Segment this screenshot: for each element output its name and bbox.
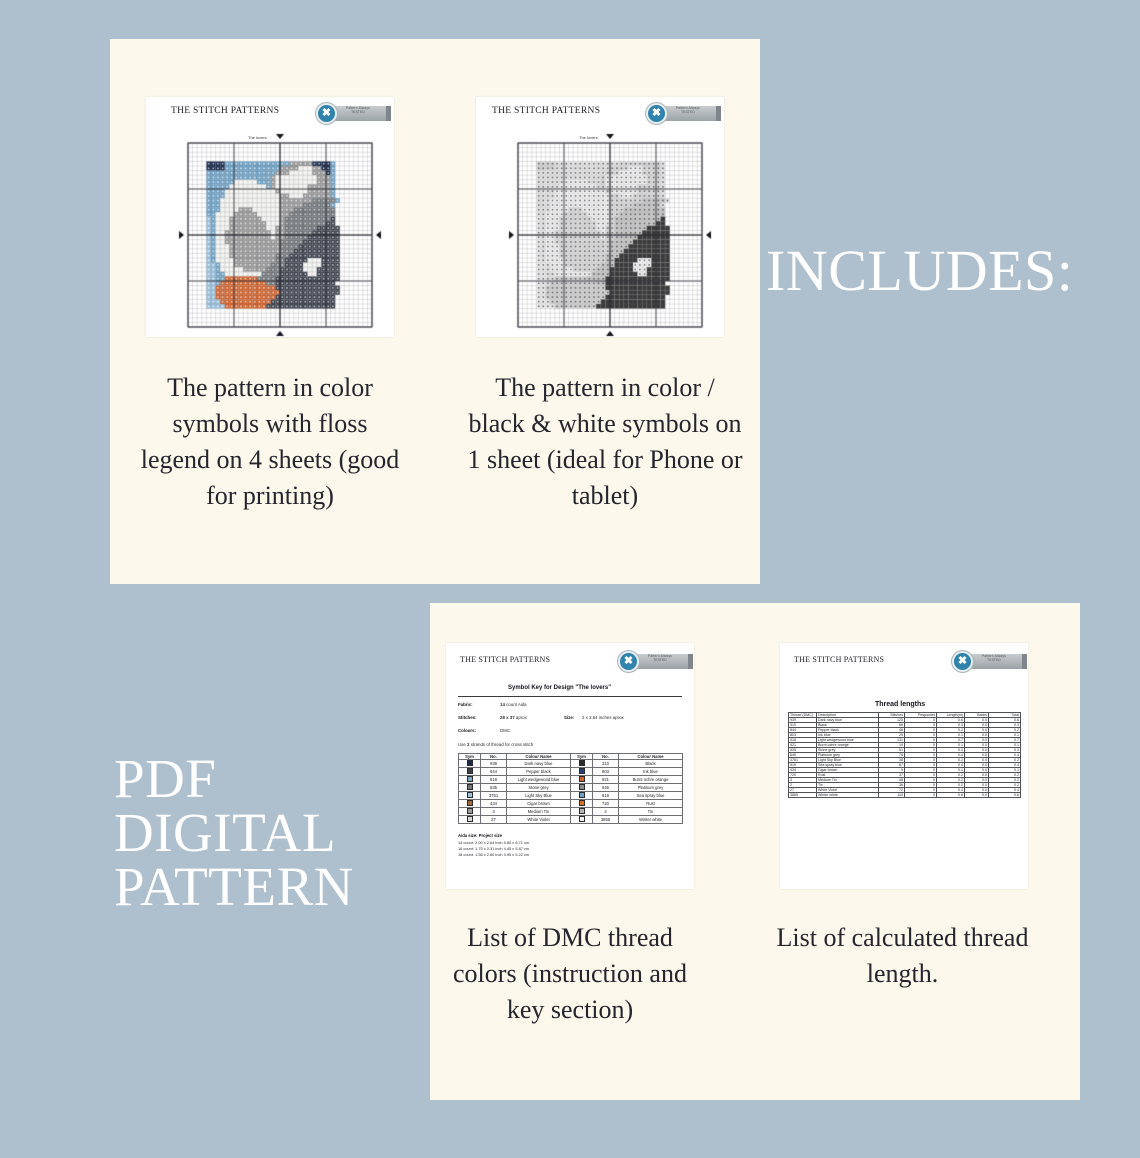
pdf-heading-line1: PDF: [114, 752, 354, 806]
key-colour-name: Rust: [619, 800, 683, 808]
badge-x-icon: ✖: [954, 653, 971, 670]
table-row: 434Cigar brown720Rust: [459, 800, 683, 808]
key-symbol-swatch: [459, 768, 481, 776]
table-row: 3Medium Tin2Tin: [459, 808, 683, 816]
pdf-heading-line2: DIGITAL: [114, 806, 354, 860]
divider: [458, 696, 682, 697]
key-thread-no: 844: [481, 768, 507, 776]
key-thread-no: 3865: [593, 816, 619, 824]
size-label: Size:: [564, 715, 574, 720]
bw-symbol-chart: [476, 97, 724, 337]
colour-swatch: [579, 760, 585, 766]
colour-swatch: [467, 808, 473, 814]
key-thread-no: 518: [481, 776, 507, 784]
table-body: 939Dark navy blue12500.60.00.6310Black66…: [789, 718, 1021, 798]
fabric-label: Fabric:: [458, 702, 473, 707]
colour-swatch: [579, 800, 585, 806]
pdf-digital-pattern-heading: PDF DIGITAL PATTERN: [114, 752, 354, 914]
strands-note-post: strands of thread for cross stitch: [469, 742, 533, 747]
key-thread-no: 646: [593, 784, 619, 792]
lengths-description: Winter white: [817, 793, 879, 798]
sheet-header-title: THE STITCH PATTERNS: [460, 655, 550, 664]
symbol-key-table: SymNo.Colour NameSymNo.Colour Name 939Da…: [458, 753, 683, 824]
key-symbol-swatch: [459, 776, 481, 784]
table-row: 518Light wedgewood blue921Burnt ochre or…: [459, 776, 683, 784]
key-thread-no: 939: [481, 760, 507, 768]
thread-lengths-table: Thread (DMC)DescriptionStitchesPespuntes…: [788, 712, 1021, 798]
stitches-approx: aprox: [515, 715, 527, 720]
caption-thread-length: List of calculated thread length.: [770, 920, 1035, 992]
table-row: 844Pepper black803Ink blue: [459, 768, 683, 776]
key-colour-name: Pepper black: [507, 768, 571, 776]
key-colour-name: Sea spray blue: [619, 792, 683, 800]
colour-swatch: [579, 784, 585, 790]
key-thread-no: 3: [481, 808, 507, 816]
lengths-total: 0.6: [989, 793, 1021, 798]
table-row: 3761Light Sky Blue519Sea spray blue: [459, 792, 683, 800]
stitches-count: 28 x 37: [500, 715, 515, 720]
sheet-symbol-key[interactable]: THE STITCH PATTERNS Pattern Always TESTE…: [446, 643, 694, 889]
badge-ribbon-text: Pattern Always TESTED: [634, 654, 686, 663]
badge-seal-icon: ✖: [618, 651, 639, 672]
key-colour-name: Light wedgewood blue: [507, 776, 571, 784]
key-colour-name: Dark navy blue: [507, 760, 571, 768]
colour-swatch: [579, 768, 585, 774]
key-symbol-swatch: [571, 768, 593, 776]
key-thread-no: 803: [593, 768, 619, 776]
caption-bw-symbols: The pattern in color / black & white sym…: [465, 370, 745, 514]
symbol-key-title: Symbol Key for Design "The lovers": [508, 685, 611, 691]
colour-swatch: [467, 784, 473, 790]
badge-seal-icon: ✖: [952, 651, 973, 672]
key-thread-no: 2: [593, 808, 619, 816]
badge-ribbon-line2: TESTED: [634, 658, 686, 662]
key-symbol-swatch: [571, 760, 593, 768]
badge-ribbon-line2: TESTED: [968, 658, 1020, 662]
key-symbol-swatch: [571, 800, 593, 808]
sheet-thread-lengths[interactable]: THE STITCH PATTERNS Pattern Always TESTE…: [780, 643, 1028, 889]
colour-swatch: [579, 816, 585, 822]
key-colour-name: Medium Tin: [507, 808, 571, 816]
strands-note-pre: Use: [458, 742, 467, 747]
key-symbol-swatch: [571, 816, 593, 824]
key-symbol-swatch: [459, 816, 481, 824]
badge-x-icon: ✖: [620, 653, 637, 670]
colours-label: Colours:: [458, 728, 476, 733]
aida-line-3: 18 count: 1.56 x 2.60 inch 3.95 x 5.22 c…: [458, 852, 529, 857]
sheet-color-pattern[interactable]: THE STITCH PATTERNS Pattern Always TESTE…: [146, 97, 394, 337]
table-row: 3865Winter white11000.60.00.6: [789, 793, 1021, 798]
colour-swatch: [467, 816, 473, 822]
stitches-value: 28 x 37 aprox: [500, 715, 527, 720]
table-row: 535Stone grey646Platinum grey: [459, 784, 683, 792]
colour-swatch: [467, 792, 473, 798]
lengths-thread: 3865: [789, 793, 817, 798]
colour-swatch: [579, 792, 585, 798]
colour-swatch: [467, 776, 473, 782]
lengths-backs: 0.0: [965, 793, 989, 798]
stitches-label: Stitches:: [458, 715, 477, 720]
lengths-pespuntes: 0: [905, 793, 937, 798]
colour-swatch: [467, 760, 473, 766]
sheet-bw-pattern[interactable]: THE STITCH PATTERNS Pattern Always TESTE…: [476, 97, 724, 337]
key-thread-no: 720: [593, 800, 619, 808]
colour-swatch: [467, 768, 473, 774]
key-symbol-swatch: [571, 784, 593, 792]
key-colour-name: Black: [619, 760, 683, 768]
pattern-tested-badge: Pattern Always TESTED ✖: [618, 651, 700, 673]
colours-value: DMC: [500, 728, 510, 733]
key-symbol-swatch: [459, 808, 481, 816]
includes-heading: INCLUDES:: [766, 240, 1073, 302]
color-symbol-chart: [146, 97, 394, 337]
thread-lengths-title: Thread lengths: [875, 701, 925, 708]
key-thread-no: 535: [481, 784, 507, 792]
aida-line-2: 16 count: 1.75 x 2.31 inch 4.45 x 5.87 c…: [458, 846, 529, 851]
key-symbol-swatch: [571, 776, 593, 784]
key-thread-no: 27: [481, 816, 507, 824]
fabric-unit: count Aida: [505, 702, 527, 707]
key-thread-no: 921: [593, 776, 619, 784]
aida-line-1: 14 count: 2.00 x 2.64 inch 5.80 x 6.71 c…: [458, 840, 529, 845]
key-colour-name: Stone grey: [507, 784, 571, 792]
key-thread-no: 310: [593, 760, 619, 768]
key-colour-name: Ink blue: [619, 768, 683, 776]
colour-swatch: [467, 800, 473, 806]
key-symbol-swatch: [459, 784, 481, 792]
pattern-tested-badge: Pattern Always TESTED ✖: [952, 651, 1034, 673]
colour-swatch: [579, 808, 585, 814]
aida-size-title: Aida size: Project size: [458, 833, 502, 838]
key-symbol-swatch: [571, 808, 593, 816]
pdf-heading-line3: PATTERN: [114, 860, 354, 914]
badge-ribbon-text: Pattern Always TESTED: [968, 654, 1020, 663]
size-value: 2 x 2.64 inches aprox: [582, 715, 624, 720]
table-body: 939Dark navy blue310Black844Pepper black…: [459, 760, 683, 824]
key-colour-name: Burnt ochre orange: [619, 776, 683, 784]
caption-dmc-list: List of DMC thread colors (instruction a…: [450, 920, 690, 1028]
key-colour-name: Platinum grey: [619, 784, 683, 792]
fabric-value: 14 count Aida: [500, 702, 527, 707]
key-symbol-swatch: [459, 792, 481, 800]
key-thread-no: 519: [593, 792, 619, 800]
table-row: 939Dark navy blue310Black: [459, 760, 683, 768]
key-symbol-swatch: [571, 792, 593, 800]
caption-color-symbols: The pattern in color symbols with floss …: [140, 370, 400, 514]
key-symbol-swatch: [459, 800, 481, 808]
key-colour-name: Winter white: [619, 816, 683, 824]
strands-note: Use 2 strands of thread for cross stitch: [458, 742, 533, 747]
key-colour-name: Cigar brown: [507, 800, 571, 808]
lengths-column-header: Thread (DMC): [789, 713, 817, 718]
key-thread-no: 3761: [481, 792, 507, 800]
key-thread-no: 434: [481, 800, 507, 808]
lengths-length: 0.6: [937, 793, 965, 798]
sheet-header-title: THE STITCH PATTERNS: [794, 655, 884, 664]
key-colour-name: White Violet: [507, 816, 571, 824]
key-colour-name: Tin: [619, 808, 683, 816]
colour-swatch: [579, 776, 585, 782]
lengths-stitches: 110: [879, 793, 905, 798]
key-symbol-swatch: [459, 760, 481, 768]
key-colour-name: Light Sky Blue: [507, 792, 571, 800]
table-row: 27White Violet3865Winter white: [459, 816, 683, 824]
